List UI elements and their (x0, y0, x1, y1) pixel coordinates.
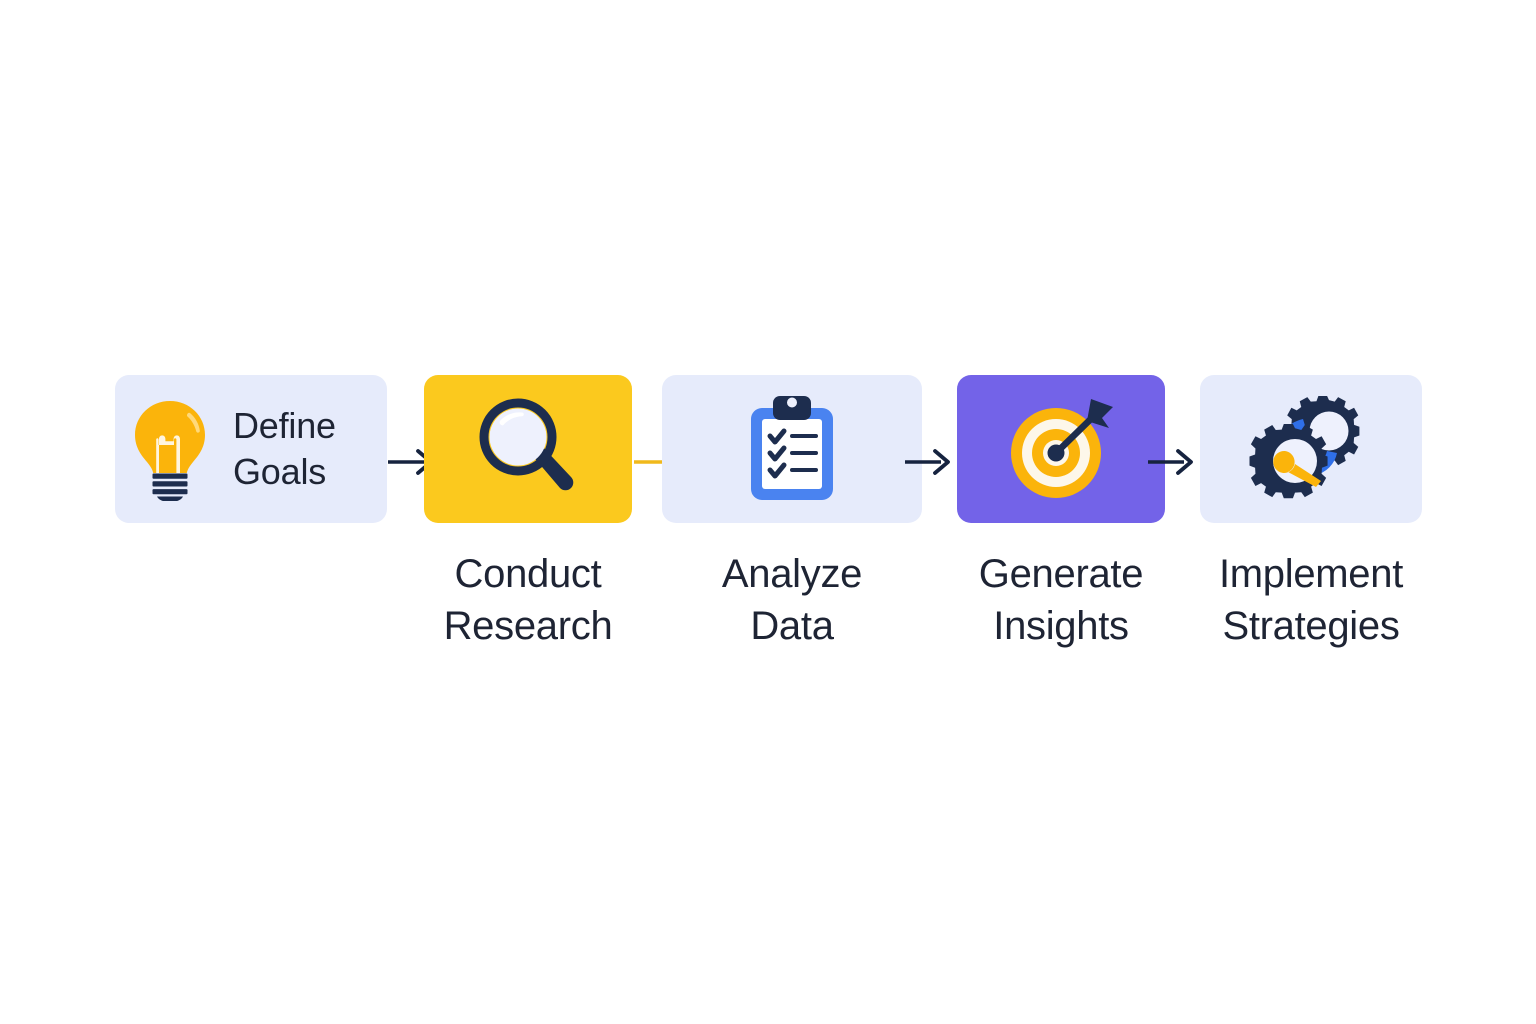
step-label-define-goals: Define Goals (233, 403, 336, 494)
step-label-conduct-research: Conduct Research (424, 549, 632, 652)
step-card-generate-insights[interactable] (957, 375, 1165, 523)
step-card-implement-strategies[interactable] (1200, 375, 1422, 523)
target-arrow-icon (1001, 375, 1121, 523)
connector-arrow-4 (1148, 444, 1196, 480)
diagram-canvas: Define Goals Cond (0, 0, 1536, 1024)
flow-step-generate-insights[interactable]: Generate Insights (957, 375, 1165, 652)
lightbulb-icon (115, 375, 225, 523)
step-card-analyze-data[interactable] (662, 375, 922, 523)
step-label-analyze-data: Analyze Data (662, 549, 922, 652)
step-card-define-goals[interactable]: Define Goals (115, 375, 387, 523)
flow-step-define-goals[interactable]: Define Goals (115, 375, 387, 523)
clipboard-checklist-icon (732, 375, 852, 523)
flow-step-analyze-data[interactable]: Analyze Data (662, 375, 922, 652)
step-label-generate-insights: Generate Insights (957, 549, 1165, 652)
connector-arrow-3 (905, 444, 953, 480)
step-card-conduct-research[interactable] (424, 375, 632, 523)
flow-step-conduct-research[interactable]: Conduct Research (424, 375, 632, 652)
gears-icon (1241, 375, 1381, 523)
magnifying-glass-icon (468, 375, 588, 523)
flow-step-implement-strategies[interactable]: Implement Strategies (1200, 375, 1422, 652)
process-flow: Define Goals Cond (0, 0, 1536, 1024)
step-label-implement-strategies: Implement Strategies (1200, 549, 1422, 652)
